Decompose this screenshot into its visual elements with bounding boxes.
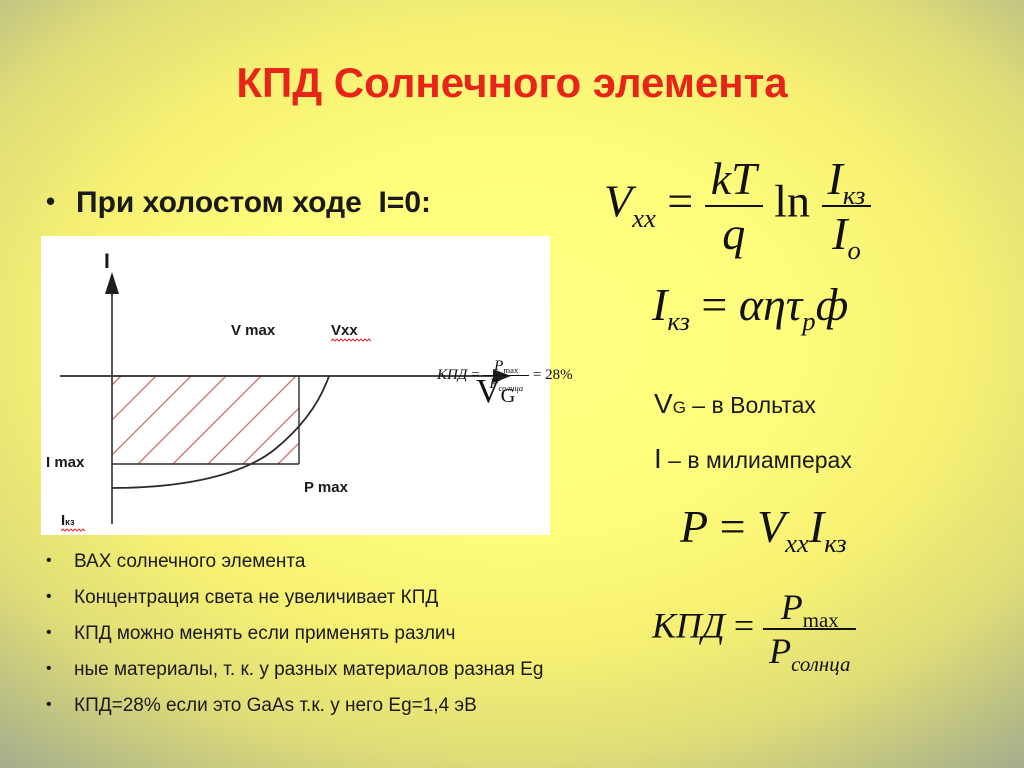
- formula-ikz-rhs: αητ: [739, 279, 802, 330]
- formula-power-i: I: [809, 501, 824, 552]
- v-max-label: V max: [231, 322, 275, 339]
- formula-ikz-rhs-sub: p: [802, 306, 815, 336]
- list-item: • КПД можно менять если применять различ: [46, 624, 746, 643]
- list-item: • ные материалы, т. к. у разных материал…: [46, 660, 746, 679]
- note-vg-symbol: V: [654, 388, 673, 419]
- bullet-dot-icon: •: [46, 589, 74, 605]
- note-i: I – в милиамперах: [654, 443, 852, 475]
- slide-canvas: КПД Солнечного элемента • При холостом х…: [0, 0, 1024, 768]
- formula-power-v: V: [757, 501, 785, 552]
- bullet-dot-icon: •: [46, 697, 74, 713]
- formula-vxx-ln: ln: [774, 176, 810, 227]
- formula-vxx-lhs-sub: xx: [632, 203, 656, 233]
- note-i-text: – в милиамперах: [662, 447, 852, 473]
- bullet-dot-icon: •: [46, 188, 76, 214]
- list-item-label: ные материалы, т. к. у разных материалов…: [74, 660, 543, 679]
- ikz-label-sub: кз: [65, 517, 74, 527]
- kpd-inline-lhs: КПД: [437, 367, 467, 383]
- p-max-label: P max: [304, 479, 348, 496]
- formula-vxx-frac1: kT q: [705, 152, 763, 260]
- i-axis-label: I: [104, 250, 110, 274]
- iv-curve-path: [112, 376, 329, 488]
- formula-kpd-denominator: Pсолнца: [763, 628, 856, 672]
- formula-vxx-lhs: V: [604, 176, 632, 227]
- ikz-label: Iкз: [61, 512, 75, 529]
- formula-power-i-sub: кз: [824, 528, 847, 558]
- kpd-inline-equals-2: =: [533, 367, 541, 383]
- list-item-label: КПД можно менять если применять различ: [74, 624, 455, 643]
- formula-kpd-fraction: Pmax Pсолнца: [763, 586, 856, 672]
- formula-vxx-frac2-num: Iкз: [822, 152, 872, 205]
- bullet-dot-icon: •: [46, 553, 74, 569]
- lead-bullet-row: • При холостом ходе I=0:: [46, 186, 431, 220]
- formula-vxx-frac2-den: Io: [822, 205, 872, 260]
- list-item-label: КПД=28% если это GaAs т.к. у него Eg=1,4…: [74, 696, 477, 715]
- formula-ikz-rhs-tail: ф: [816, 279, 849, 330]
- list-item: • КПД=28% если это GaAs т.к. у него Eg=1…: [46, 696, 746, 715]
- list-item: • ВАХ солнечного элемента: [46, 552, 746, 571]
- list-item: • Концентрация света не увеличивает КПД: [46, 588, 746, 607]
- formula-power-equals: =: [720, 501, 746, 552]
- kpd-inline-result: 28%: [545, 367, 573, 383]
- formula-vxx-frac2: Iкз Io: [822, 152, 872, 260]
- hatch-fill: [41, 336, 441, 496]
- vg-overlap-symbol: VG: [476, 373, 515, 411]
- formula-power: P = VxxIкз: [680, 500, 847, 553]
- note-vg-sub: G: [673, 398, 686, 417]
- list-item-label: Концентрация света не увеличивает КПД: [74, 588, 438, 607]
- formula-power-lhs: P: [680, 501, 708, 552]
- formula-vxx-frac1-den: q: [705, 205, 763, 260]
- formula-power-v-sub: xx: [785, 528, 809, 558]
- spellcheck-squiggle-icon: [331, 338, 371, 342]
- formula-ikz-lhs: I: [652, 279, 667, 330]
- formula-kpd-numerator: Pmax: [763, 586, 856, 628]
- bullet-dot-icon: •: [46, 625, 74, 641]
- vg-overlap-sub: G: [501, 385, 516, 407]
- formula-vxx-frac1-num: kT: [705, 152, 763, 205]
- lead-bullet-text: При холостом ходе I=0:: [76, 186, 431, 220]
- vxx-label: Vxx: [331, 322, 358, 339]
- page-title: КПД Солнечного элемента: [0, 62, 1024, 104]
- note-i-symbol: I: [654, 443, 662, 474]
- note-vg-text: – в Вольтах: [686, 392, 816, 418]
- formula-ikz-equals: =: [701, 279, 727, 330]
- vg-overlap-main: V: [476, 373, 501, 410]
- formula-ikz: Iкз = αητpф: [652, 278, 848, 331]
- note-vg: VG – в Вольтах: [654, 388, 816, 420]
- formula-vxx-equals: =: [667, 176, 693, 227]
- formula-vxx: Vxx = kT q ln Iкз Io: [604, 152, 871, 260]
- i-max-label: I max: [46, 454, 84, 471]
- i-axis-arrow-icon: [105, 272, 119, 294]
- spellcheck-squiggle-icon: [61, 528, 85, 532]
- vxx-label-text: Vxx: [331, 322, 358, 339]
- bullet-dot-icon: •: [46, 661, 74, 677]
- list-item-label: ВАХ солнечного элемента: [74, 552, 305, 571]
- bottom-bullet-list: • ВАХ солнечного элемента • Концентрация…: [46, 552, 746, 732]
- formula-ikz-lhs-sub: кз: [667, 306, 690, 336]
